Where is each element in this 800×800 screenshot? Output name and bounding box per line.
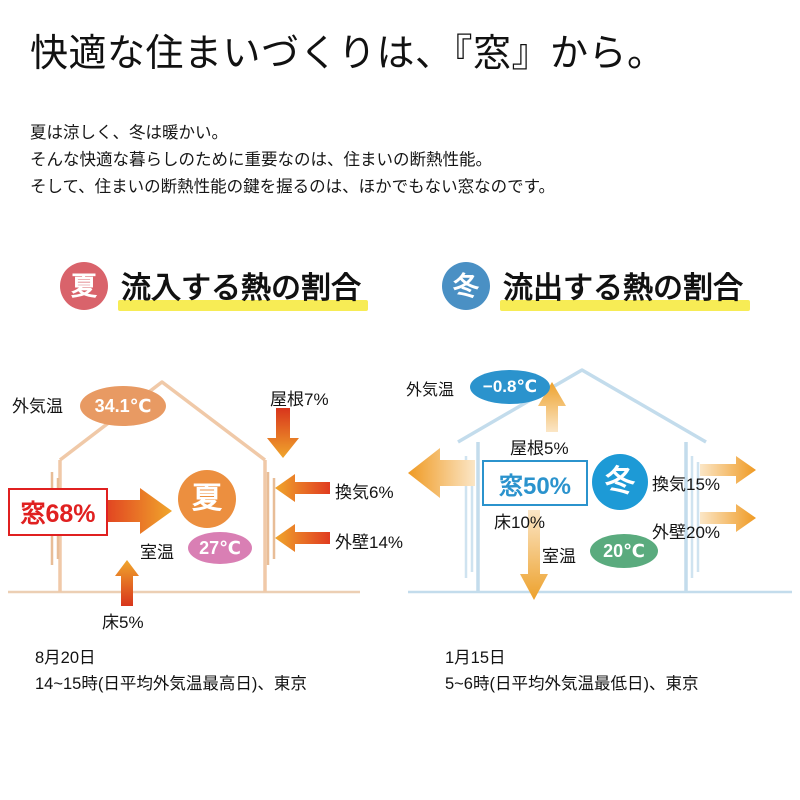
winter-indoor-temp-label: 室温 — [542, 542, 576, 567]
summer-floor-arrow-icon — [115, 560, 139, 606]
summer-ventilation-label: 換気6% — [335, 478, 394, 503]
summer-roof-arrow-icon — [267, 408, 299, 458]
summer-season-mark: 夏 — [178, 470, 236, 528]
winter-window-percentage: 窓50% — [482, 460, 588, 506]
summer-ventilation-arrow-icon — [275, 474, 330, 502]
summer-wall-label: 外壁14% — [335, 528, 403, 553]
summer-indoor-temp-label: 室温 — [140, 538, 174, 563]
winter-outdoor-temp-label: 外気温 — [406, 376, 454, 400]
intro-paragraph: 夏は涼しく、冬は暖かい。 そんな快適な暮らしのために重要なのは、住まいの断熱性能… — [30, 120, 555, 201]
summer-right-window-icon — [268, 472, 274, 565]
winter-ventilation-label: 換気15% — [652, 470, 720, 495]
intro-line-2: そんな快適な暮らしのために重要なのは、住まいの断熱性能。 — [30, 147, 555, 174]
winter-season-badge-icon: 冬 — [442, 262, 490, 310]
summer-heat-gain-diagram: 外気温 34.1℃ 屋根7% 夏 換気6% 外壁14% 窓68% 室温 27℃ … — [0, 360, 400, 650]
section-title-summer: 流入する熱の割合 — [118, 263, 364, 309]
summer-caption-line-1: 8月20日 — [35, 645, 307, 671]
summer-window-arrow-icon — [100, 488, 172, 534]
section-header-summer: 夏 流入する熱の割合 — [60, 262, 364, 310]
winter-outdoor-temp-value: −0.8℃ — [470, 370, 550, 404]
section-title-winter: 流出する熱の割合 — [500, 263, 746, 309]
page-title: 快適な住まいづくりは、『窓』から。 — [30, 22, 666, 77]
summer-caption: 8月20日 14~15時(日平均外気温最高日)、東京 — [35, 645, 307, 697]
section-header-winter: 冬 流出する熱の割合 — [442, 262, 746, 310]
summer-roof-label: 屋根7% — [270, 385, 329, 410]
intro-line-3: そして、住まいの断熱性能の鍵を握るのは、ほかでもない窓なのです。 — [30, 174, 555, 201]
summer-wall-arrow-icon — [275, 524, 330, 552]
winter-wall-label: 外壁20% — [652, 518, 720, 543]
summer-floor-label: 床5% — [102, 608, 144, 633]
winter-floor-label: 床10% — [494, 508, 545, 533]
summer-window-percentage: 窓68% — [8, 488, 108, 536]
summer-outdoor-temp-label: 外気温 — [12, 392, 63, 417]
winter-caption: 1月15日 5~6時(日平均外気温最低日)、東京 — [445, 645, 698, 697]
intro-line-1: 夏は涼しく、冬は暖かい。 — [30, 120, 555, 147]
summer-outdoor-temp-value: 34.1℃ — [80, 386, 166, 426]
summer-caption-line-2: 14~15時(日平均外気温最高日)、東京 — [35, 671, 307, 697]
winter-house-illustration — [400, 360, 800, 650]
winter-roof-label: 屋根5% — [510, 434, 569, 459]
summer-season-badge-icon: 夏 — [60, 262, 108, 310]
winter-season-mark: 冬 — [592, 454, 648, 510]
winter-caption-line-2: 5~6時(日平均外気温最低日)、東京 — [445, 671, 698, 697]
winter-caption-line-1: 1月15日 — [445, 645, 698, 671]
summer-indoor-temp-value: 27℃ — [188, 532, 252, 564]
winter-heat-loss-diagram: 外気温 −0.8℃ 屋根5% 窓50% 冬 換気15% 床10% 外壁20% 室… — [400, 360, 800, 650]
winter-indoor-temp-value: 20℃ — [590, 534, 658, 568]
